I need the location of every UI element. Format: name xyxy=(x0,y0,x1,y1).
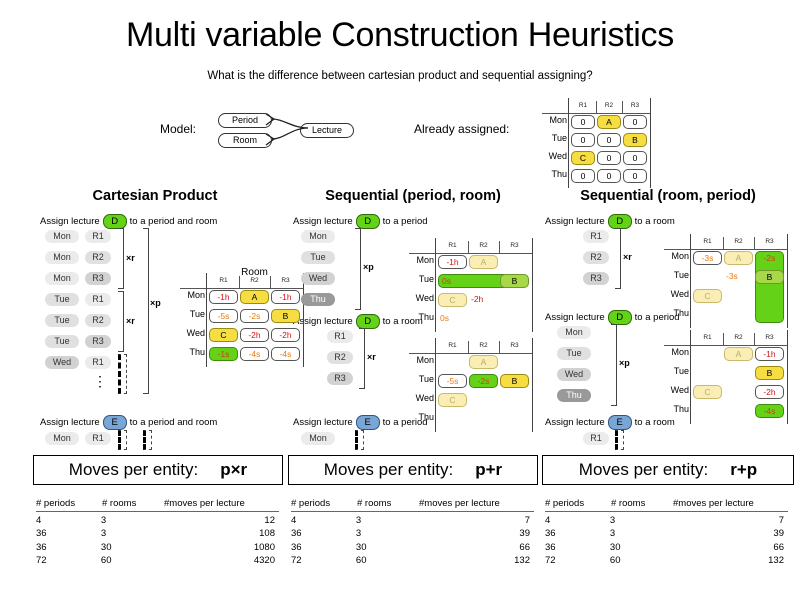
cartesian-score-grid: RoomR1R2R3Mon-1hA-1hTue-5s-2sBWedC-2h-2h… xyxy=(176,265,286,365)
grid-cell: -2s xyxy=(469,374,498,388)
moves-formula: r+p xyxy=(730,460,757,480)
table-column-header: # periods xyxy=(36,498,102,509)
grid-cell: 0 xyxy=(571,169,595,183)
grid-cell: -2s xyxy=(755,251,784,323)
grid-cell: C xyxy=(693,385,722,399)
lecture-chip-e[interactable]: E xyxy=(103,415,127,430)
moves-label: Moves per entity: xyxy=(579,460,708,480)
grid-cell: A xyxy=(469,255,498,269)
cartesian-pair-list: MonR1MonR2MonR3TueR1TueR2TueR3WedR1×r×r×… xyxy=(40,230,180,400)
column-heading-seq-pr: Sequential (period, room) xyxy=(288,188,538,204)
grid-tick xyxy=(239,276,240,288)
grid-tick xyxy=(723,237,724,249)
room-pill: R1 xyxy=(327,330,353,343)
grid-row-header: Mon xyxy=(540,115,567,125)
multiplier: ×p xyxy=(619,358,630,368)
bracket-inner xyxy=(118,228,124,289)
grid-cell: C xyxy=(209,328,238,342)
table-row: 7260132 xyxy=(545,553,788,567)
grid-col-header: R2 xyxy=(723,334,754,341)
grid-cell: -4s xyxy=(240,347,269,361)
table-column-header: # rooms xyxy=(357,498,419,509)
multiplier: ×p xyxy=(363,262,374,272)
table-cell: 12 xyxy=(162,515,279,526)
lecture-chip-d[interactable]: D xyxy=(608,310,632,325)
grid-tick xyxy=(754,237,755,249)
grid-cell: -2h xyxy=(471,293,498,305)
assign-prefix: Assign lecture xyxy=(545,216,605,227)
grid-right-rule xyxy=(532,338,533,432)
grid-left-rule xyxy=(690,330,691,424)
grid-col-header: R1 xyxy=(692,334,723,341)
grid-right-rule xyxy=(787,234,788,328)
room-pill: R2 xyxy=(583,251,609,264)
table-cell: 7 xyxy=(417,515,534,526)
period-pill: Wed xyxy=(301,272,335,285)
room-pill: R3 xyxy=(583,272,609,285)
table-row: 36339 xyxy=(545,526,788,540)
grid-tick xyxy=(622,101,623,113)
grid-row-header: Wed xyxy=(407,293,434,303)
bracket-inner xyxy=(118,291,124,352)
assign-row-c3-1: Assign lectureDto a room xyxy=(545,214,675,229)
table-column-header: # periods xyxy=(545,498,611,509)
grid-cell: -2h xyxy=(240,328,269,342)
assign-row-c2-1: Assign lectureDto a period xyxy=(293,214,428,229)
grid-row-header: Mon xyxy=(662,347,689,357)
grid-col-header: R2 xyxy=(596,102,622,109)
vertical-ellipsis: ⋮ xyxy=(93,378,107,384)
seq-rp-room-grid: R1R2R3Mon-3sA-2sTue-3sBWedCThu xyxy=(660,226,770,316)
grid-row-header: Mon xyxy=(407,255,434,265)
multiplier-outer: ×p xyxy=(150,298,161,308)
grid-row-header: Thu xyxy=(540,169,567,179)
table-row: 437 xyxy=(291,512,534,526)
grid-col-header: R2 xyxy=(468,242,499,249)
pair-period-pill: Wed xyxy=(45,356,79,369)
seq-pr-room-list: R1R2R3×r xyxy=(293,330,398,410)
pair-room-pill: R2 xyxy=(85,314,111,327)
table-cell: 3 xyxy=(610,528,671,539)
moves-formula: p+r xyxy=(475,460,502,480)
seq-rp-tail-list: R1 xyxy=(545,432,655,452)
table-cell: 132 xyxy=(671,555,788,566)
pair-period-pill: Tue xyxy=(45,293,79,306)
moves-box-1: Moves per entity: p×r xyxy=(33,455,283,485)
grid-cell: 0 xyxy=(597,133,621,147)
grid-left-rule xyxy=(435,238,436,332)
table-row: 363066 xyxy=(545,539,788,553)
table-row: 4312 xyxy=(36,512,279,526)
grid-row-header: Tue xyxy=(407,374,434,384)
grid-cell: 0 xyxy=(623,169,647,183)
assign-prefix: Assign lecture xyxy=(545,417,605,428)
table-cell: 132 xyxy=(417,555,534,566)
pair-room-pill: R1 xyxy=(85,230,111,243)
grid-cell: 0 xyxy=(597,151,621,165)
table-cell: 60 xyxy=(101,555,162,566)
table-row: 36339 xyxy=(291,526,534,540)
grid-left-rule xyxy=(206,273,207,367)
assign-row-c3-3: Assign lectureEto a room xyxy=(545,415,675,430)
table-cell: 3 xyxy=(101,528,162,539)
bracket-outer xyxy=(143,228,149,394)
table-cell: 60 xyxy=(610,555,671,566)
table-row: 363108 xyxy=(36,526,279,540)
table-cell: 108 xyxy=(162,528,279,539)
grid-tick xyxy=(499,341,500,353)
grid-cell: C xyxy=(693,289,722,303)
grid-cell: A xyxy=(469,355,498,369)
grid-row-header: Mon xyxy=(662,251,689,261)
grid-cell: -3s xyxy=(726,270,753,282)
grid-cell: B xyxy=(755,366,784,380)
bracket xyxy=(359,328,365,389)
grid-cell: C xyxy=(571,151,595,165)
bracket xyxy=(615,228,621,289)
table-cell: 36 xyxy=(291,528,356,539)
grid-tick xyxy=(723,333,724,345)
assign-prefix: Assign lecture xyxy=(293,216,353,227)
grid-tick xyxy=(596,101,597,113)
table-cell: 66 xyxy=(671,542,788,553)
column-heading-cartesian: Cartesian Product xyxy=(30,188,280,204)
grid-col-header: R3 xyxy=(499,342,530,349)
period-pill: Mon xyxy=(301,230,335,243)
moves-table-1: # periods# rooms#moves per lecture431236… xyxy=(36,498,279,566)
pair-room-pill: R1 xyxy=(85,432,111,445)
grid-tick xyxy=(270,276,271,288)
table-column-header: #moves per lecture xyxy=(164,498,279,509)
multiplier-inner: ×r xyxy=(126,253,135,263)
already-assigned-grid: R1R2R3Mon0A0Tue00BWedC00Thu000 xyxy=(536,92,646,170)
grid-row-header: Tue xyxy=(178,309,205,319)
assign-prefix: Assign lecture xyxy=(293,417,353,428)
assign-prefix: Assign lecture xyxy=(40,216,100,227)
grid-cell: C xyxy=(438,393,467,407)
table-cell: 39 xyxy=(417,528,534,539)
grid-cell: A xyxy=(724,347,753,361)
lecture-chip-d[interactable]: D xyxy=(608,214,632,229)
assign-row-c1-1: Assign lectureDto a period and room xyxy=(40,214,217,229)
table-cell: 3 xyxy=(356,528,417,539)
period-pill: Tue xyxy=(301,251,335,264)
table-cell: 36 xyxy=(545,528,610,539)
grid-col-header: R1 xyxy=(692,238,723,245)
table-cell: 3 xyxy=(610,515,671,526)
grid-cell: A xyxy=(597,115,621,129)
table-row: 72604320 xyxy=(36,553,279,567)
table-row: 36301080 xyxy=(36,539,279,553)
grid-cell: 0 xyxy=(597,169,621,183)
grid-left-rule xyxy=(435,338,436,432)
table-header-row: # periods# rooms#moves per lecture xyxy=(545,498,788,512)
grid-col-header: R3 xyxy=(499,242,530,249)
column-heading-seq-rp: Sequential (room, period) xyxy=(540,188,796,204)
table-row: 437 xyxy=(545,512,788,526)
lecture-chip-e[interactable]: E xyxy=(356,415,380,430)
grid-cell: 0s xyxy=(440,312,467,324)
grid-col-header: R1 xyxy=(437,242,468,249)
bracket-inner-dashed xyxy=(118,430,127,450)
grid-row-header: Wed xyxy=(662,385,689,395)
grid-tick xyxy=(754,333,755,345)
bracket-outer-dashed xyxy=(143,430,152,450)
moves-label: Moves per entity: xyxy=(324,460,453,480)
table-column-header: #moves per lecture xyxy=(419,498,534,509)
grid-cell: A xyxy=(240,290,269,304)
room-pill: R1 xyxy=(583,230,609,243)
pair-room-pill: R1 xyxy=(85,356,111,369)
multiplier: ×r xyxy=(623,252,632,262)
grid-cell: -4s xyxy=(755,404,784,418)
pair-room-pill: R3 xyxy=(85,335,111,348)
grid-cell: -3s xyxy=(693,251,722,265)
grid-cell: B xyxy=(500,374,529,388)
table-column-header: # rooms xyxy=(102,498,164,509)
grid-left-rule xyxy=(568,98,569,188)
grid-cell: -1s xyxy=(209,347,238,361)
moves-label: Moves per entity: xyxy=(69,460,198,480)
table-cell: 1080 xyxy=(162,542,279,553)
grid-cell: -5s xyxy=(438,374,467,388)
period-pill: Mon xyxy=(301,432,335,445)
grid-cell: -1h xyxy=(755,347,784,361)
pair-period-pill: Tue xyxy=(45,314,79,327)
grid-right-rule xyxy=(532,238,533,332)
period-pill: Mon xyxy=(557,326,591,339)
grid-col-header: R1 xyxy=(570,102,596,109)
seq-pr-period-list: MonTueWedThu×p xyxy=(293,230,398,320)
grid-row-header: Tue xyxy=(662,270,689,280)
period-pill: Wed xyxy=(557,368,591,381)
grid-row-header: Thu xyxy=(178,347,205,357)
grid-cell: -2h xyxy=(755,385,784,399)
moves-box-2: Moves per entity: p+r xyxy=(288,455,538,485)
grid-row-header: Wed xyxy=(407,393,434,403)
lecture-chip-d[interactable]: D xyxy=(356,214,380,229)
table-cell: 36 xyxy=(291,542,356,553)
seq-pr-room-grid: R1R2R3MonATue-5s-2sBWedCThu xyxy=(405,330,515,410)
room-pill: R3 xyxy=(327,372,353,385)
grid-tick xyxy=(468,241,469,253)
grid-col-header: R2 xyxy=(723,238,754,245)
table-cell: 30 xyxy=(101,542,162,553)
model-label: Model: xyxy=(160,122,196,136)
grid-col-header: R3 xyxy=(754,238,785,245)
grid-row-header: Mon xyxy=(178,290,205,300)
grid-tick xyxy=(468,341,469,353)
grid-cell: -5s xyxy=(209,309,238,323)
assign-suffix: to a room xyxy=(635,417,675,428)
bracket-dashed xyxy=(355,430,364,450)
table-row: 363066 xyxy=(291,539,534,553)
lecture-chip-d[interactable]: D xyxy=(103,214,127,229)
grid-cell: 0 xyxy=(571,133,595,147)
grid-row-header: Thu xyxy=(662,308,689,318)
assign-prefix: Assign lecture xyxy=(545,312,605,323)
model-connectors xyxy=(262,108,310,160)
period-pill: Thu xyxy=(557,389,591,402)
already-assigned-label: Already assigned: xyxy=(414,122,509,136)
pair-period-pill: Mon xyxy=(45,272,79,285)
room-pill: R2 xyxy=(327,351,353,364)
grid-cell: A xyxy=(724,251,753,265)
lecture-chip-e[interactable]: E xyxy=(608,415,632,430)
grid-cell: B xyxy=(623,133,647,147)
table-column-header: #moves per lecture xyxy=(673,498,788,509)
grid-col-header: R1 xyxy=(208,277,239,284)
grid-row-header: Tue xyxy=(540,133,567,143)
grid-right-rule xyxy=(650,98,651,188)
multiplier-inner: ×r xyxy=(126,316,135,326)
grid-cell: 0 xyxy=(623,115,647,129)
grid-row-header: Thu xyxy=(662,404,689,414)
table-header-row: # periods# rooms#moves per lecture xyxy=(36,498,279,512)
grid-cell: B xyxy=(500,274,529,288)
table-cell: 3 xyxy=(101,515,162,526)
pair-period-pill: Tue xyxy=(45,335,79,348)
grid-row-header: Mon xyxy=(407,355,434,365)
table-header-row: # periods# rooms#moves per lecture xyxy=(291,498,534,512)
table-cell: 4 xyxy=(36,515,101,526)
cartesian-tail-list: MonR1 xyxy=(40,432,180,452)
moves-table-3: # periods# rooms#moves per lecture437363… xyxy=(545,498,788,566)
period-pill: Tue xyxy=(557,347,591,360)
grid-cell: -1h xyxy=(209,290,238,304)
grid-row-header: Tue xyxy=(662,366,689,376)
table-cell: 36 xyxy=(545,542,610,553)
bracket xyxy=(611,324,617,406)
pair-period-pill: Mon xyxy=(45,432,79,445)
table-cell: 4 xyxy=(545,515,610,526)
table-cell: 60 xyxy=(356,555,417,566)
assign-suffix: to a period and room xyxy=(130,417,218,428)
page-subtitle: What is the difference between cartesian… xyxy=(0,70,800,82)
grid-row-header: Wed xyxy=(540,151,567,161)
table-cell: 36 xyxy=(36,542,101,553)
table-cell: 66 xyxy=(417,542,534,553)
pair-room-pill: R3 xyxy=(85,272,111,285)
page-title: Multi variable Construction Heuristics xyxy=(0,16,800,55)
grid-cell: B xyxy=(755,270,784,284)
grid-col-header: R2 xyxy=(239,277,270,284)
seq-rp-period-list: MonTueWedThu×p xyxy=(545,326,655,416)
bracket-inner-dashed xyxy=(118,354,127,394)
grid-row-header: Thu xyxy=(407,412,434,422)
pair-period-pill: Mon xyxy=(45,230,79,243)
table-cell: 7 xyxy=(671,515,788,526)
pair-period-pill: Mon xyxy=(45,251,79,264)
grid-col-header: R3 xyxy=(754,334,785,341)
table-cell: 30 xyxy=(356,542,417,553)
grid-row-header: Wed xyxy=(178,328,205,338)
table-cell: 4320 xyxy=(162,555,279,566)
table-row: 7260132 xyxy=(291,553,534,567)
table-cell: 72 xyxy=(36,555,101,566)
table-cell: 4 xyxy=(291,515,356,526)
seq-rp-period-grid: R1R2R3MonA-1hTueBWedC-2hThu-4s xyxy=(660,322,770,412)
grid-cell: C xyxy=(438,293,467,307)
assign-suffix: to a period and room xyxy=(130,216,218,227)
grid-col-header: R2 xyxy=(468,342,499,349)
multiplier: ×r xyxy=(367,352,376,362)
grid-col-header: R1 xyxy=(437,342,468,349)
bracket-dashed xyxy=(615,430,624,450)
room-pill: R1 xyxy=(583,432,609,445)
seq-pr-tail-list: Mon xyxy=(293,432,398,452)
grid-tick xyxy=(499,241,500,253)
table-cell: 36 xyxy=(36,528,101,539)
grid-cell: -1h xyxy=(438,255,467,269)
moves-formula: p×r xyxy=(220,460,247,480)
bracket xyxy=(355,228,361,310)
assign-row-c1-2: Assign lectureEto a period and room xyxy=(40,415,217,430)
seq-pr-period-grid: R1R2R3Mon-1hATue0sBWedC-2hThu0s xyxy=(405,230,515,320)
seq-rp-room-list: R1R2R3×r xyxy=(545,230,655,310)
table-column-header: # periods xyxy=(291,498,357,509)
grid-cell: 0 xyxy=(571,115,595,129)
table-cell: 30 xyxy=(610,542,671,553)
table-column-header: # rooms xyxy=(611,498,673,509)
pair-room-pill: R1 xyxy=(85,293,111,306)
period-pill: Thu xyxy=(301,293,335,306)
grid-row-header: Thu xyxy=(407,312,434,322)
assign-prefix: Assign lecture xyxy=(40,417,100,428)
grid-col-header: R3 xyxy=(622,102,648,109)
grid-row-header: Tue xyxy=(407,274,434,284)
assign-suffix: to a period xyxy=(383,216,428,227)
grid-right-rule xyxy=(787,330,788,424)
grid-cell: 0 xyxy=(623,151,647,165)
pair-room-pill: R2 xyxy=(85,251,111,264)
table-cell: 72 xyxy=(291,555,356,566)
grid-row-header: Wed xyxy=(662,289,689,299)
grid-left-rule xyxy=(690,234,691,328)
moves-box-3: Moves per entity: r+p xyxy=(542,455,794,485)
moves-table-2: # periods# rooms#moves per lecture437363… xyxy=(291,498,534,566)
grid-cell: -2s xyxy=(240,309,269,323)
table-cell: 39 xyxy=(671,528,788,539)
table-cell: 72 xyxy=(545,555,610,566)
table-cell: 3 xyxy=(356,515,417,526)
